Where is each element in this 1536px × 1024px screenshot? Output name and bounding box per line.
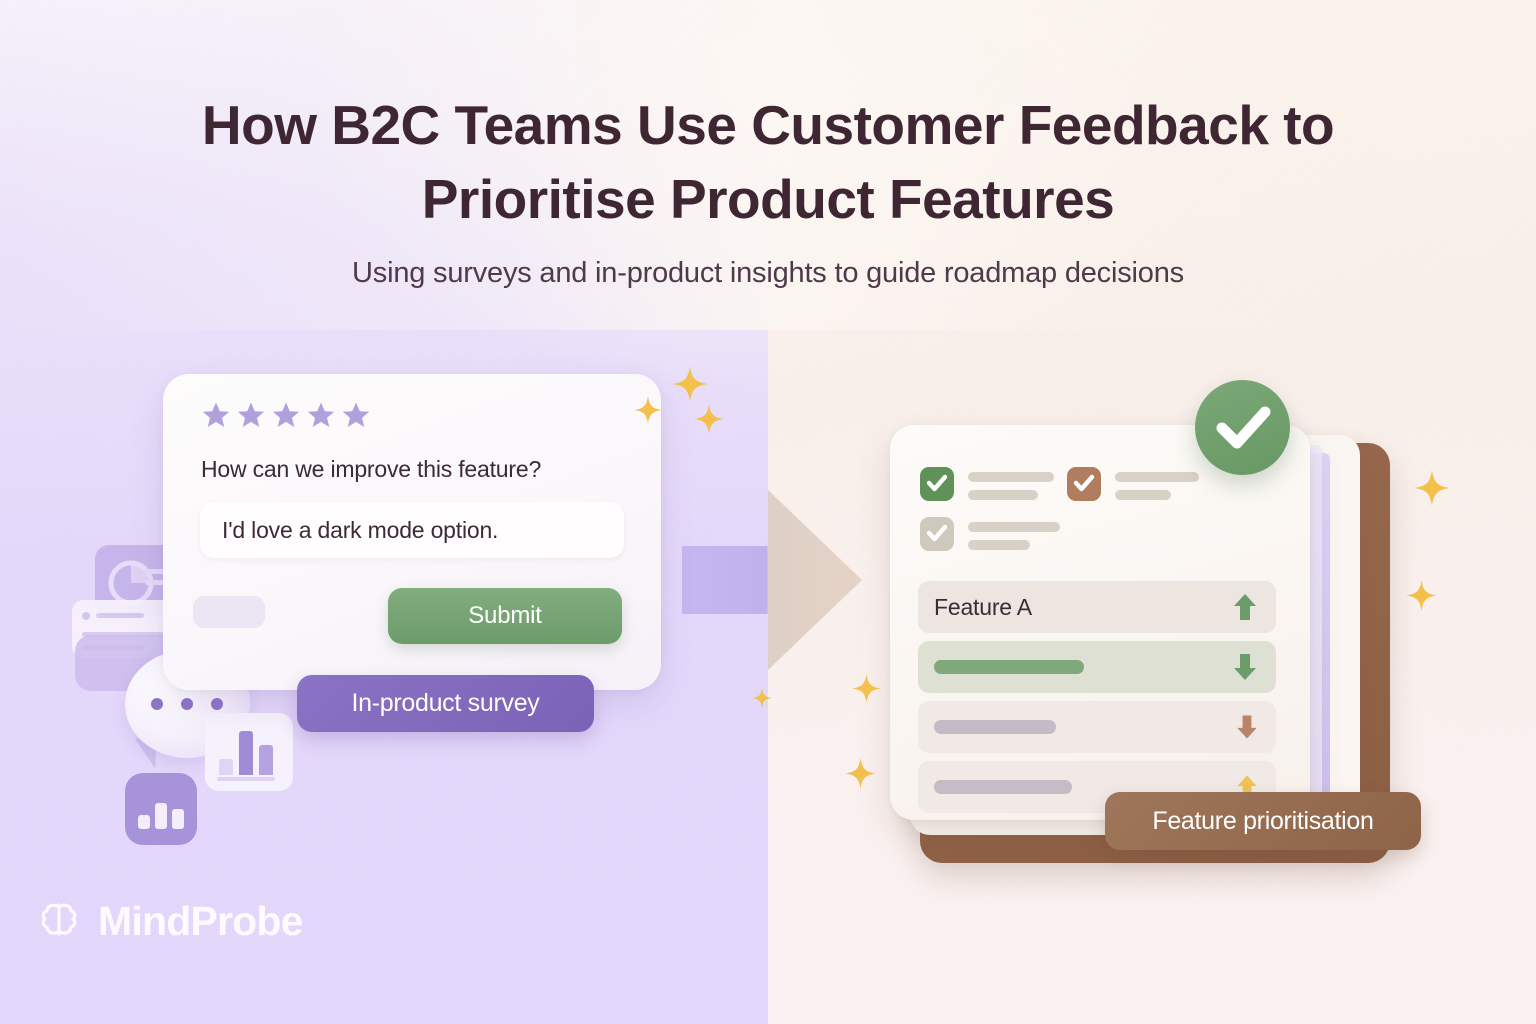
prioritisation-card: Feature A: [890, 425, 1310, 820]
arrow-down-icon: [1232, 712, 1262, 742]
feature-row[interactable]: [918, 701, 1276, 753]
feature-row[interactable]: [918, 641, 1276, 693]
checklist-item-in-review[interactable]: [1067, 467, 1199, 501]
sparkle-icon: [852, 674, 881, 703]
page-title: How B2C Teams Use Customer Feedback to P…: [0, 88, 1536, 237]
feature-progress-bar: [934, 780, 1072, 794]
check-circle-icon: [1195, 380, 1290, 475]
sparkle-icon: [672, 366, 708, 402]
survey-question: How can we improve this feature?: [201, 456, 541, 483]
arrow-up-icon: [1228, 590, 1262, 624]
sparkle-icon: [845, 758, 876, 789]
survey-answer-input[interactable]: I'd love a dark mode option.: [200, 502, 624, 558]
flow-arrow: [672, 470, 872, 690]
brand-name: MindProbe: [98, 898, 303, 945]
checklist-text-lines: [968, 467, 1054, 500]
sparkle-icon: [1406, 580, 1437, 611]
brain-icon: [36, 899, 82, 945]
checkbox-checked-icon[interactable]: [1067, 467, 1101, 501]
in-product-survey-label: In-product survey: [297, 675, 594, 732]
checkbox-checked-icon[interactable]: [920, 467, 954, 501]
bar-chart-small-icon: [125, 773, 197, 845]
sparkle-icon: [634, 396, 662, 424]
checklist-text-lines: [1115, 467, 1199, 500]
survey-secondary-chip: [193, 596, 265, 628]
feature-prioritisation-label: Feature prioritisation: [1105, 792, 1421, 850]
poster-canvas: How B2C Teams Use Customer Feedback to P…: [0, 0, 1536, 1024]
star-icon[interactable]: [201, 400, 231, 430]
star-icon[interactable]: [306, 400, 336, 430]
header-block: How B2C Teams Use Customer Feedback to P…: [0, 88, 1536, 290]
checklist-text-lines: [968, 517, 1060, 550]
feature-progress-bar: [934, 660, 1084, 674]
checkbox-checked-icon[interactable]: [920, 517, 954, 551]
checklist-item-pending[interactable]: [920, 517, 1060, 551]
brand-logo[interactable]: MindProbe: [36, 898, 303, 945]
arrow-right-icon: [672, 470, 872, 690]
sparkle-icon: [694, 404, 724, 434]
star-icon[interactable]: [271, 400, 301, 430]
feature-progress-bar: [934, 720, 1056, 734]
arrow-down-icon: [1228, 650, 1262, 684]
star-icon[interactable]: [236, 400, 266, 430]
star-icon[interactable]: [341, 400, 371, 430]
bar-chart-icon: [205, 713, 293, 791]
checklist-item-completed[interactable]: [920, 467, 1054, 501]
star-rating[interactable]: [201, 400, 371, 430]
submit-button[interactable]: Submit: [388, 588, 622, 644]
sparkle-icon: [1414, 470, 1450, 506]
feature-row-label: Feature A: [934, 594, 1032, 621]
feature-row[interactable]: Feature A: [918, 581, 1276, 633]
page-subtitle: Using surveys and in-product insights to…: [0, 257, 1536, 290]
sparkle-icon: [752, 688, 772, 708]
survey-answer-value: I'd love a dark mode option.: [222, 517, 498, 544]
